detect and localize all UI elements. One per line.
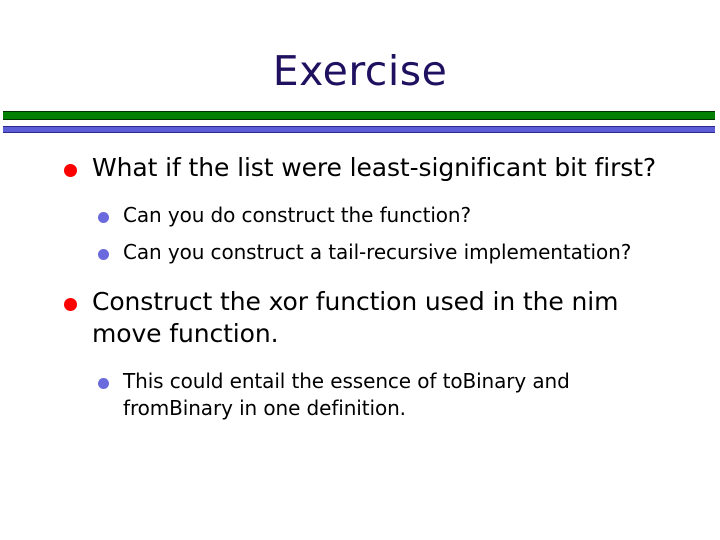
title-divider — [3, 111, 715, 133]
bullet-text: Construct the xor function used in the n… — [92, 287, 618, 348]
spacer — [0, 229, 720, 239]
bullet-item-level2: This could entail the essence of toBinar… — [0, 368, 720, 422]
bullet-text: This could entail the essence of toBinar… — [123, 369, 570, 420]
bullet-item-level1: Construct the xor function used in the n… — [0, 286, 720, 350]
divider-rule-green — [3, 111, 715, 120]
page-title: Exercise — [0, 48, 720, 95]
red-disc-bullet-icon — [64, 298, 77, 311]
spacer — [0, 266, 720, 286]
spacer — [0, 184, 720, 202]
divider-rule-blue — [3, 126, 715, 133]
blue-disc-bullet-icon — [98, 378, 109, 389]
slide-body: What if the list were least-significant … — [0, 152, 720, 422]
blue-disc-bullet-icon — [98, 212, 109, 223]
bullet-item-level1: What if the list were least-significant … — [0, 152, 720, 184]
blue-disc-bullet-icon — [98, 249, 109, 260]
bullet-text: What if the list were least-significant … — [92, 153, 656, 182]
bullet-item-level2: Can you do construct the function? — [0, 202, 720, 229]
bullet-text: Can you construct a tail-recursive imple… — [123, 240, 631, 264]
bullet-text: Can you do construct the function? — [123, 203, 471, 227]
bullet-item-level2: Can you construct a tail-recursive imple… — [0, 239, 720, 266]
presentation-slide: Exercise What if the list were least-sig… — [0, 0, 720, 540]
red-disc-bullet-icon — [64, 164, 77, 177]
spacer — [0, 350, 720, 368]
